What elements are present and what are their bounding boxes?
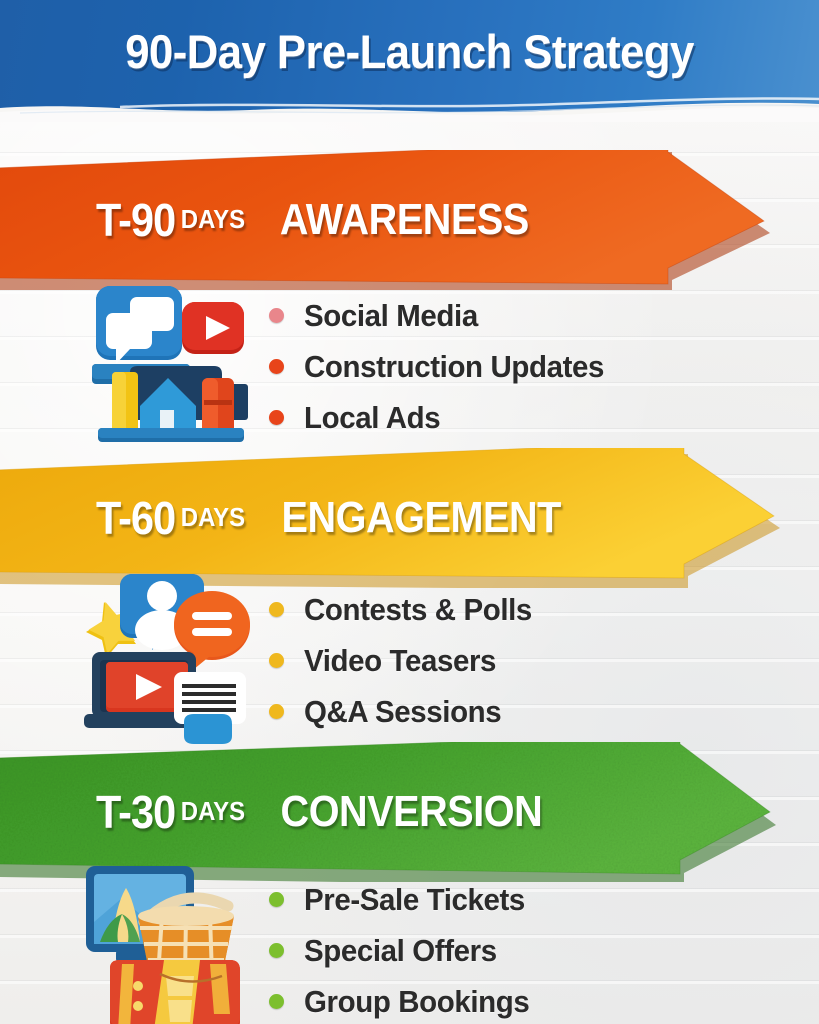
list-item-label: Video Teasers <box>304 643 496 679</box>
arrow-awareness: T-90 DAYS AWARENESS <box>0 150 819 290</box>
list-item-label: Construction Updates <box>304 349 604 385</box>
list-item[interactable]: Q&A Sessions <box>265 686 819 737</box>
bullet-dot <box>269 943 284 958</box>
list-item[interactable]: Social Media <box>265 290 819 341</box>
arrow-conversion-label: T-30 DAYS CONVERSION <box>96 742 557 882</box>
milestone-label: T-30 <box>96 785 175 839</box>
brush-stroke-divider <box>0 86 819 122</box>
infographic-poster: 90-Day Pre-Launch Strategy T-90 DAYS <box>0 0 819 1024</box>
phase-name-label: ENGAGEMENT <box>281 493 560 543</box>
list-item-label: Pre-Sale Tickets <box>304 882 525 918</box>
bullet-dot <box>269 653 284 668</box>
list-item-label: Special Offers <box>304 933 497 969</box>
conversion-bullet-list: Pre-Sale Tickets Special Offers Group Bo… <box>265 864 819 1024</box>
list-item-label: Q&A Sessions <box>304 694 501 730</box>
tickets-basket-gift-icon <box>82 864 257 1024</box>
bullet-dot <box>269 359 284 374</box>
list-item-label: Contests & Polls <box>304 592 532 628</box>
list-item[interactable]: Pre-Sale Tickets <box>265 874 819 925</box>
milestone-label: T-60 <box>96 491 175 545</box>
days-unit-label: DAYS <box>181 796 245 829</box>
list-item[interactable]: Local Ads <box>265 392 819 443</box>
arrow-conversion: T-30 DAYS CONVERSION <box>0 742 819 882</box>
bullet-dot <box>269 308 284 323</box>
phase-awareness: T-90 DAYS AWARENESS <box>0 150 819 290</box>
days-unit-label: DAYS <box>181 502 245 535</box>
contest-video-chat-icon <box>82 574 257 746</box>
arrow-engagement: T-60 DAYS ENGAGEMENT <box>0 448 819 588</box>
list-item-label: Group Bookings <box>304 984 529 1020</box>
list-item[interactable]: Video Teasers <box>265 635 819 686</box>
page-title: 90-Day Pre-Launch Strategy <box>29 24 791 79</box>
arrow-awareness-label: T-90 DAYS AWARENESS <box>96 150 543 290</box>
days-unit-label: DAYS <box>181 204 245 237</box>
arrow-engagement-label: T-60 DAYS ENGAGEMENT <box>96 448 576 588</box>
bullet-dot <box>269 602 284 617</box>
phase-name-label: CONVERSION <box>280 787 542 837</box>
bullet-dot <box>269 410 284 425</box>
bullet-dot <box>269 892 284 907</box>
awareness-bullet-list: Social Media Construction Updates Local … <box>265 280 819 443</box>
list-item[interactable]: Contests & Polls <box>265 584 819 635</box>
list-item-label: Social Media <box>304 298 478 334</box>
engagement-bullet-list: Contests & Polls Video Teasers Q&A Sessi… <box>265 574 819 737</box>
conversion-content: Pre-Sale Tickets Special Offers Group Bo… <box>0 864 819 1024</box>
phase-name-label: AWARENESS <box>280 195 529 245</box>
social-media-construction-icon <box>82 280 257 452</box>
poster-header: 90-Day Pre-Launch Strategy <box>0 0 819 122</box>
bullet-dot <box>269 704 284 719</box>
milestone-label: T-90 <box>96 193 175 247</box>
bullet-dot <box>269 994 284 1009</box>
phase-engagement: T-60 DAYS ENGAGEMENT <box>0 448 819 588</box>
list-item[interactable]: Special Offers <box>265 925 819 976</box>
list-item[interactable]: Construction Updates <box>265 341 819 392</box>
engagement-content: Contests & Polls Video Teasers Q&A Sessi… <box>0 574 819 746</box>
list-item[interactable]: Group Bookings <box>265 976 819 1024</box>
list-item-label: Local Ads <box>304 400 440 436</box>
phase-conversion: T-30 DAYS CONVERSION <box>0 742 819 882</box>
awareness-content: Social Media Construction Updates Local … <box>0 280 819 452</box>
